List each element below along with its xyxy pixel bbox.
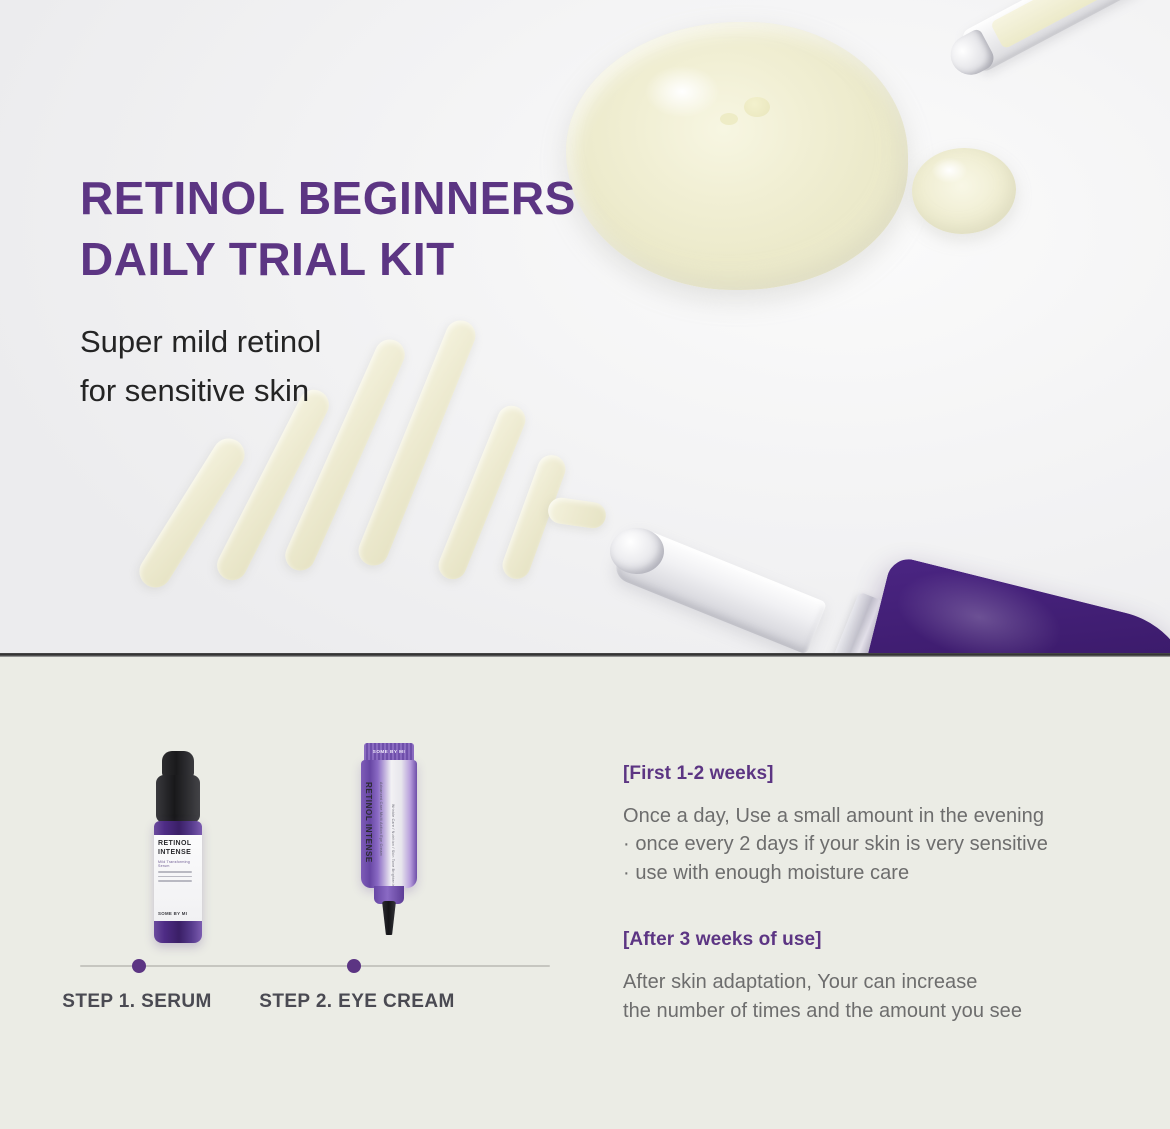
instruction-group-first-weeks: [First 1-2 weeks] Once a day, Use a smal… — [623, 763, 1123, 887]
serum-bottle-hero — [604, 500, 1170, 654]
product-serum-bottle: RETINOL INTENSE Mild Transforming Serum … — [150, 751, 206, 943]
timeline-dot-step-2 — [347, 959, 361, 973]
timeline-dot-step-1 — [132, 959, 146, 973]
hero-subtitle-line-1: Super mild retinol — [80, 318, 321, 367]
hero-title: RETINOL BEGINNERS DAILY TRIAL KIT — [80, 168, 576, 289]
serum-stroke — [546, 496, 607, 530]
tube-body: RETINOL INTENSE Advanced Care Multi Acti… — [361, 760, 417, 888]
instruction-heading: [After 3 weeks of use] — [623, 929, 1123, 951]
pipette-bulb — [610, 528, 664, 574]
usage-guide-section: RETINOL INTENSE Mild Transforming Serum … — [0, 657, 1170, 1129]
bottle-body-purple — [849, 555, 1170, 654]
serum-dropper-neck — [156, 775, 200, 823]
step-timeline — [80, 959, 550, 973]
tube-brand: SOME BY MI — [364, 749, 414, 754]
dropper-pipette-top-right — [930, 0, 1163, 126]
product-eye-cream-tube: SOME BY MI RETINOL INTENSE Advanced Care… — [358, 743, 420, 943]
serum-brand: SOME BY MI — [158, 911, 187, 916]
hero-title-line-1: RETINOL BEGINNERS — [80, 168, 576, 229]
tube-label-benefits: Wrinkle Care / Nutrition / Skin Tone Bri… — [391, 804, 395, 889]
section-divider — [0, 653, 1170, 657]
serum-label-line-2: INTENSE — [158, 849, 191, 856]
hero-subtitle: Super mild retinol for sensitive skin — [80, 318, 321, 416]
tube-crimp-seal: SOME BY MI — [364, 743, 414, 761]
instruction-line: After skin adaptation, Your can increase — [623, 968, 1123, 996]
hero-subtitle-line-2: for sensitive skin — [80, 367, 321, 416]
instruction-line: · use with enough moisture care — [623, 859, 1123, 887]
serum-label-line-1: RETINOL — [158, 840, 192, 847]
serum-label-subtitle: Mild Transforming Serum — [158, 860, 202, 868]
hero-banner: RETINOL BEGINNERS DAILY TRIAL KIT Super … — [0, 0, 1170, 654]
instruction-line: · once every 2 days if your skin is very… — [623, 830, 1123, 858]
instruction-line: the number of times and the amount you s… — [623, 997, 1123, 1025]
instruction-line: Once a day, Use a small amount in the ev… — [623, 802, 1123, 830]
instruction-heading: [First 1-2 weeks] — [623, 763, 1123, 785]
tube-nozzle — [382, 901, 396, 935]
step-label-eye-cream: STEP 2. EYE CREAM — [257, 991, 457, 1013]
serum-drop-large — [566, 22, 908, 290]
instruction-body: Once a day, Use a small amount in the ev… — [623, 802, 1123, 887]
hero-title-line-2: DAILY TRIAL KIT — [80, 229, 576, 290]
product-detail-page: RETINOL BEGINNERS DAILY TRIAL KIT Super … — [0, 0, 1170, 1129]
product-lineup: RETINOL INTENSE Mild Transforming Serum … — [80, 743, 570, 1023]
usage-instructions: [First 1-2 weeks] Once a day, Use a smal… — [623, 763, 1123, 1025]
serum-drop-small — [912, 148, 1016, 234]
timeline-track — [80, 965, 550, 967]
instruction-group-after-three-weeks: [After 3 weeks of use] After skin adapta… — [623, 929, 1123, 1025]
serum-label-detail-lines — [158, 871, 192, 885]
serum-cap — [162, 751, 194, 777]
instruction-body: After skin adaptation, Your can increase… — [623, 968, 1123, 1025]
tube-label-main: RETINOL INTENSE — [364, 782, 373, 863]
tube-label-subtitle: Advanced Care Multi Action Eye Cream — [379, 782, 383, 856]
serum-label: RETINOL INTENSE Mild Transforming Serum … — [154, 835, 202, 921]
step-label-serum: STEP 1. SERUM — [57, 991, 217, 1013]
